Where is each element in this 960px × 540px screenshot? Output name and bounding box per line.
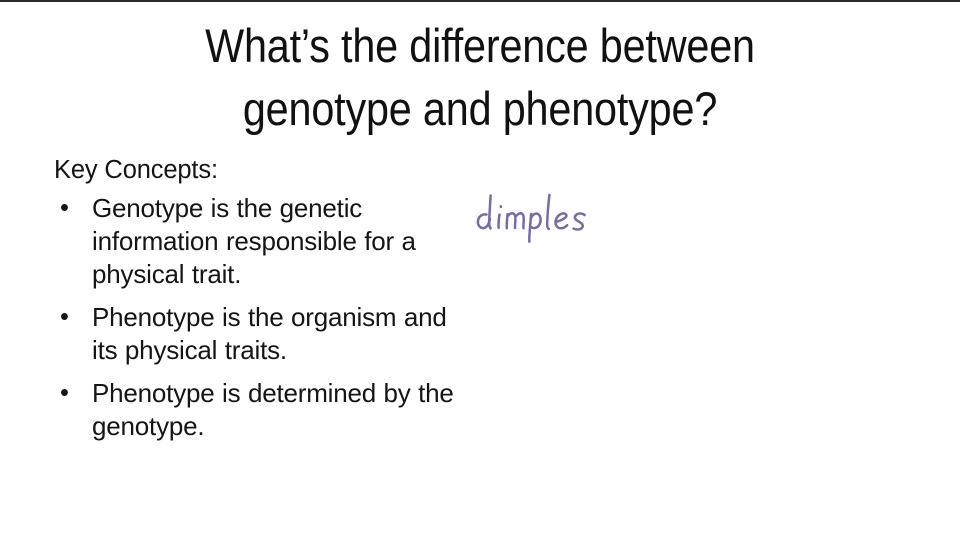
bullet-point-icon: • xyxy=(54,377,92,410)
top-edge-rule xyxy=(0,0,960,2)
page-title: What’s the difference between genotype a… xyxy=(0,14,960,140)
list-item: • Phenotype is the organism and its phys… xyxy=(54,301,474,367)
title-line-2: genotype and phenotype? xyxy=(58,77,903,140)
bullet-point-icon: • xyxy=(54,301,92,334)
list-item-label: Genotype is the genetic information resp… xyxy=(92,192,474,291)
handwriting-ink-strokes xyxy=(472,189,612,245)
list-item-label: Phenotype is determined by the genotype. xyxy=(92,377,474,443)
bullet-point-icon: • xyxy=(54,192,92,225)
list-item-label: Phenotype is the organism and its physic… xyxy=(92,301,474,367)
handwritten-annotation-dimples xyxy=(472,189,612,245)
title-line-1: What’s the difference between xyxy=(58,14,903,77)
list-item: • Genotype is the genetic information re… xyxy=(54,192,474,291)
key-concepts-section: Key Concepts: • Genotype is the genetic … xyxy=(54,154,474,443)
list-item: • Phenotype is determined by the genotyp… xyxy=(54,377,474,443)
slide-canvas: What’s the difference between genotype a… xyxy=(0,0,960,540)
key-concepts-heading: Key Concepts: xyxy=(54,154,474,186)
